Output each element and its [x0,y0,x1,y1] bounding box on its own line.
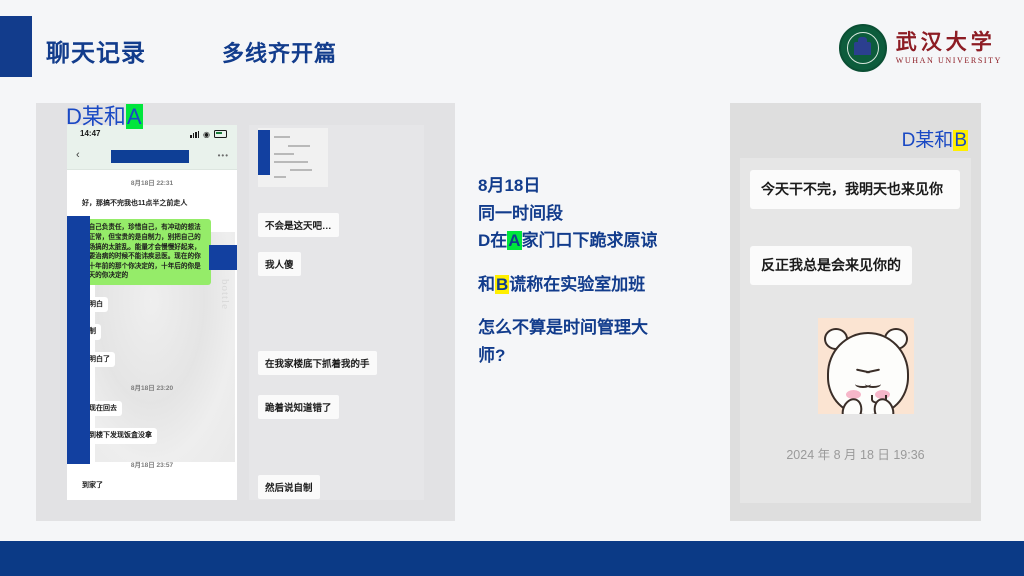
chat-bubble: 跪着说知道错了 [258,395,339,419]
page-subtitle: 多线齐开篇 [222,36,337,68]
redaction-bar-right [209,245,237,270]
left-label-prefix: D某和 [66,104,126,129]
redacted-contact-name [111,150,189,163]
university-seal-icon [839,24,887,72]
wifi-icon: ◉ [203,131,210,138]
chat-bubble: 在我家楼底下抓着我的手 [258,351,377,375]
right-label-highlight: B [953,130,968,151]
chat-screenshot-phone: 14:47 ◉ ‹ ••• bottle 8月18日 22:31 好，那搞不完我… [67,125,237,500]
line3-pre: D在 [478,231,507,250]
chat-timestamp: 8月18日 22:31 [67,177,237,187]
second-chat-column: 不会是这天吧… 我人傻 在我家楼底下抓着我的手 跪着说知道错了 然后说自制 [249,125,424,500]
battery-icon [214,130,227,138]
crying-bear-sticker [818,318,914,414]
left-panel-label: D某和A [66,99,143,131]
chat-message-list: bottle 8月18日 22:31 好，那搞不完我也11点半之前走人 对自己负… [67,170,237,500]
left-screenshot-card: 14:47 ◉ ‹ ••• bottle 8月18日 22:31 好，那搞不完我… [36,103,455,521]
more-options-icon[interactable]: ••• [218,151,229,160]
summary-line-1: 8月18日 [478,172,728,200]
right-chat-list: 今天干不完，我明天也来见你 反正我总是会来见你的 2024 年 8 月 18 日… [740,158,971,503]
line3-highlight: A [507,231,521,250]
summary-line-5: 怎么不算是时间管理大 [478,314,728,342]
chat-thumbnail-image [258,128,328,187]
right-screenshot-card: D某和B 今天干不完，我明天也来见你 反正我总是会来见你的 2024 年 8 月… [730,103,981,521]
left-label-highlight: A [126,104,143,129]
summary-line-3: D在A家门口下跪求原谅 [478,227,728,255]
chat-bubble: 今天干不完，我明天也来见你 [750,170,960,209]
redaction-bar-left [67,216,90,464]
chat-bubble: 不会是这天吧… [258,213,339,237]
page-title: 聊天记录 [46,33,146,68]
logo-name-cn: 武汉大学 [896,32,1002,53]
line4-pre: 和 [478,275,495,294]
chat-timestamp: 8月18日 23:57 [67,459,237,469]
right-label-prefix: D某和 [902,130,954,151]
signal-icon [190,131,199,138]
back-icon[interactable]: ‹ [76,149,80,161]
logo-name-en: WUHAN UNIVERSITY [896,57,1002,65]
right-panel-label: D某和B [902,125,968,152]
spacer [478,255,728,271]
bear-face [827,332,909,414]
chat-bubble: 然后说自制 [258,475,320,499]
watermark: bottle [219,279,231,310]
chat-bubble-highlighted: 对自己负责任，珍惜自己，有冲动的想法很正常，但宝贵的是自制力，别把自己的磁场搞的… [77,219,211,284]
chat-bubble: 到家了 [77,478,108,493]
chat-bubble: 好，那搞不完我也11点半之前走人 [77,196,192,211]
line3-post: 家门口下跪求原谅 [522,231,658,250]
centre-summary-text: 8月18日 同一时间段 D在A家门口下跪求原谅 和B谎称在实验室加班 怎么不算是… [478,172,728,369]
header-accent-block [0,16,32,77]
summary-line-2: 同一时间段 [478,200,728,228]
chat-nav-bar: ‹ ••• [67,145,237,170]
line4-highlight: B [495,275,509,294]
footer-bar [0,541,1024,576]
summary-line-6: 师? [478,342,728,370]
summary-line-4: 和B谎称在实验室加班 [478,271,728,299]
chat-timestamp: 8月18日 23:20 [67,382,237,392]
chat-bubble: 我人傻 [258,252,301,276]
chat-bubble: 反正我总是会来见你的 [750,246,912,285]
slide-root: 聊天记录 多线齐开篇 武汉大学 WUHAN UNIVERSITY 14:47 ◉… [0,0,1024,576]
line4-post: 谎称在实验室加班 [509,275,645,294]
wuhan-university-logo: 武汉大学 WUHAN UNIVERSITY [839,24,1002,72]
status-icons: ◉ [190,130,227,138]
spacer [478,298,728,314]
chat-timestamp: 2024 年 8 月 18 日 19:36 [740,444,971,463]
